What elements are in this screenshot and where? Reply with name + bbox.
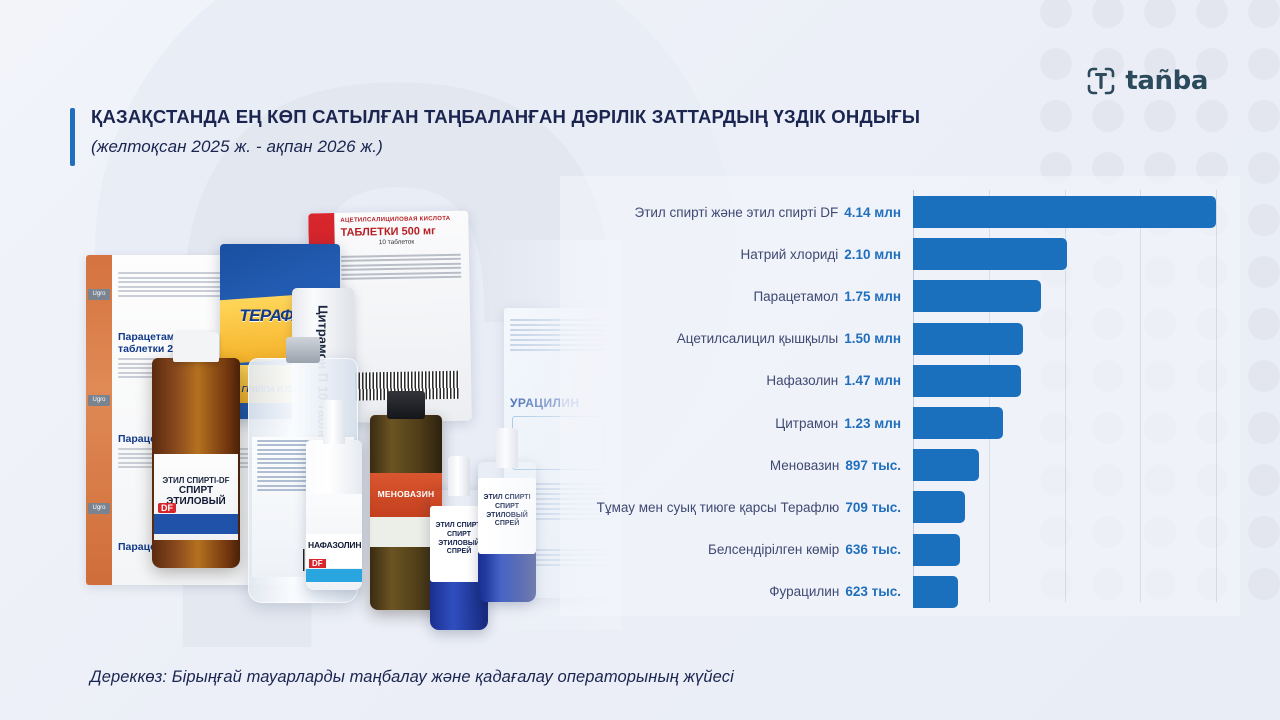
chart-bar bbox=[913, 407, 1003, 439]
page-subtitle: (желтоқсан 2025 ж. - ақпан 2026 ж.) bbox=[91, 137, 920, 157]
chart-row-label: Этил спирті және этил спирті DF4.14 млн bbox=[560, 205, 913, 220]
title-block: ҚАЗАҚСТАНДА ЕҢ КӨП САТЫЛҒАН ТАҢБАЛАНҒАН … bbox=[70, 106, 920, 157]
chart-bar-area bbox=[913, 528, 1240, 572]
chart-row-label: Фурацилин623 тыс. bbox=[560, 584, 913, 599]
chart-bar bbox=[913, 196, 1216, 228]
chart-row-category: Нафазолин bbox=[766, 373, 838, 388]
chart-bar bbox=[913, 449, 979, 481]
chart-row-category: Ацетилсалицил қышқылы bbox=[677, 331, 838, 346]
chart-bar-area bbox=[913, 359, 1240, 403]
chart-bar bbox=[913, 365, 1021, 397]
chart-row-value: 1.23 млн bbox=[844, 416, 901, 431]
chart-row: Этил спирті және этил спирті DF4.14 млн bbox=[560, 190, 1240, 234]
brand-logo: tañba bbox=[1086, 66, 1208, 96]
chart-bar-area bbox=[913, 190, 1240, 234]
chart-rows: Этил спирті және этил спирті DF4.14 млнН… bbox=[560, 176, 1240, 616]
brand-name: tañba bbox=[1125, 66, 1208, 96]
acid-header: АЦЕТИЛСАЛИЦИЛОВАЯ КИСЛОТА bbox=[340, 216, 462, 224]
chart-row: Ацетилсалицил қышқылы1.50 млн bbox=[560, 317, 1240, 361]
chart-row-label: Натрий хлориді2.10 млн bbox=[560, 247, 913, 262]
bar-chart: Этил спирті және этил спирті DF4.14 млнН… bbox=[560, 176, 1240, 616]
chart-bar bbox=[913, 280, 1041, 312]
chart-bar-area bbox=[913, 570, 1240, 614]
chart-row: Меновазин897 тыс. bbox=[560, 443, 1240, 487]
chart-bar-area bbox=[913, 443, 1240, 487]
chart-row: Белсендірілген көмір636 тыс. bbox=[560, 528, 1240, 572]
chart-bar-area bbox=[913, 485, 1240, 529]
chart-row-value: 1.75 млн bbox=[844, 289, 901, 304]
chart-row: Тұмау мен суық тиюге қарсы Терафлю709 ты… bbox=[560, 485, 1240, 529]
chart-row-label: Парацетамол1.75 млн bbox=[560, 289, 913, 304]
chart-bar bbox=[913, 491, 965, 523]
page-title: ҚАЗАҚСТАНДА ЕҢ КӨП САТЫЛҒАН ТАҢБАЛАНҒАН … bbox=[91, 106, 920, 128]
chart-row-label: Меновазин897 тыс. bbox=[560, 458, 913, 473]
chart-row-value: 1.47 млн bbox=[844, 373, 901, 388]
chart-bar bbox=[913, 238, 1067, 270]
chart-row-value: 709 тыс. bbox=[845, 500, 901, 515]
chart-row-label: Нафазолин1.47 млн bbox=[560, 373, 913, 388]
chart-row-category: Парацетамол bbox=[753, 289, 838, 304]
chart-row-category: Натрий хлориді bbox=[741, 247, 839, 262]
chart-row-category: Фурацилин bbox=[769, 584, 839, 599]
title-accent-bar bbox=[70, 108, 75, 166]
chart-row-value: 636 тыс. bbox=[845, 542, 901, 557]
chart-bar-area bbox=[913, 317, 1240, 361]
source-note: Дереккөз: Бірыңғай тауарларды таңбалау ж… bbox=[90, 668, 734, 687]
chart-row-value: 1.50 млн bbox=[844, 331, 901, 346]
chart-row-label: Тұмау мен суық тиюге қарсы Терафлю709 ты… bbox=[560, 500, 913, 515]
chart-row-category: Меновазин bbox=[770, 458, 839, 473]
chart-bar bbox=[913, 534, 960, 566]
chart-row-category: Цитрамон bbox=[775, 416, 838, 431]
chart-bar-area bbox=[913, 274, 1240, 318]
collage-fade-overlay bbox=[52, 240, 622, 630]
infographic-canvas: Ր tañba ҚАЗАҚСТАНДА ЕҢ КӨП САТЫЛҒАН ТАҢБ… bbox=[0, 0, 1280, 720]
tanba-bracket-logo-icon bbox=[1086, 66, 1116, 96]
acid-dose: ТАБЛЕТКИ 500 мг bbox=[340, 225, 435, 239]
chart-row-category: Этил спирті және этил спирті DF bbox=[635, 205, 839, 220]
chart-bar bbox=[913, 576, 958, 608]
chart-bar bbox=[913, 323, 1023, 355]
chart-row: Нафазолин1.47 млн bbox=[560, 359, 1240, 403]
chart-row-category: Тұмау мен суық тиюге қарсы Терафлю bbox=[597, 500, 840, 515]
chart-row-value: 4.14 млн bbox=[844, 205, 901, 220]
chart-row: Натрий хлориді2.10 млн bbox=[560, 232, 1240, 276]
chart-row-label: Цитрамон1.23 млн bbox=[560, 416, 913, 431]
chart-row: Фурацилин623 тыс. bbox=[560, 570, 1240, 614]
chart-row-value: 897 тыс. bbox=[845, 458, 901, 473]
chart-row-label: Ацетилсалицил қышқылы1.50 млн bbox=[560, 331, 913, 346]
chart-row-value: 2.10 млн bbox=[844, 247, 901, 262]
chart-row: Парацетамол1.75 млн bbox=[560, 274, 1240, 318]
chart-row-category: Белсендірілген көмір bbox=[708, 542, 839, 557]
chart-row-label: Белсендірілген көмір636 тыс. bbox=[560, 542, 913, 557]
product-photo-collage: Ugro Ugro Ugro Парацетамол таблетки 200 … bbox=[52, 240, 622, 630]
chart-bar-area bbox=[913, 401, 1240, 445]
chart-bar-area bbox=[913, 232, 1240, 276]
chart-row: Цитрамон1.23 млн bbox=[560, 401, 1240, 445]
chart-row-value: 623 тыс. bbox=[845, 584, 901, 599]
